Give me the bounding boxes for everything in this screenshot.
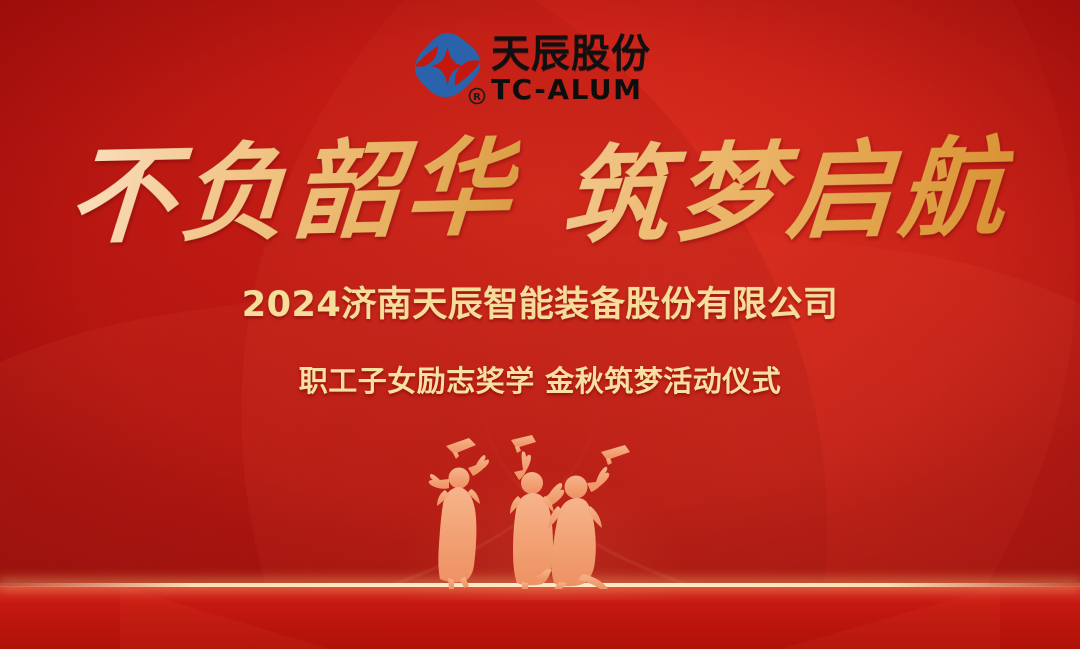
floor-light-beam-right (780, 586, 1000, 649)
subtitle-event-line: 职工子女励志奖学 金秋筑梦活动仪式 (0, 362, 1080, 400)
svg-text:R: R (473, 92, 481, 103)
company-logo: R 天辰股份 TC-ALUM (411, 26, 681, 110)
tc-alum-diamond-star-icon: R (411, 30, 485, 106)
floor-light-beam-left (120, 586, 330, 649)
headline-segment-2: 筑梦启航 (559, 131, 1015, 252)
registered-trademark-icon: R (467, 86, 487, 106)
poster-canvas: R 天辰股份 TC-ALUM 不负韶华 筑梦启航 2024济南天辰智能装备股份有… (0, 0, 1080, 649)
logo-english-name: TC-ALUM (491, 75, 651, 105)
subtitle-company-line: 2024济南天辰智能装备股份有限公司 (0, 283, 1080, 327)
logo-wordmark: 天辰股份 TC-ALUM (491, 31, 651, 105)
stage-floor (0, 586, 1080, 649)
logo-chinese-name: 天辰股份 (491, 33, 651, 76)
graduate-figure-right (548, 445, 630, 589)
graduates-tossing-caps-illustration (418, 432, 668, 590)
headline-calligraphy: 不负韶华 筑梦启航 (0, 133, 1080, 251)
headline-segment-1: 不负韶华 (65, 131, 521, 252)
graduate-figure-left (429, 438, 489, 589)
